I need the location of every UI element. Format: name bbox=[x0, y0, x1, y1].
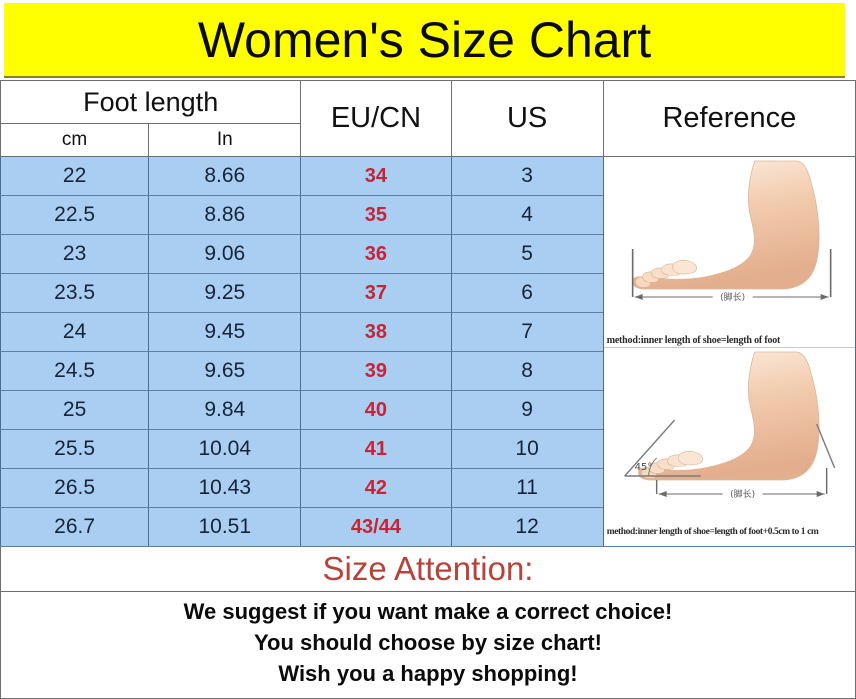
table-header-row-primary: Foot length EU/CN US Reference bbox=[1, 81, 856, 124]
cell-in: 8.66 bbox=[149, 157, 301, 196]
size-chart-page: Women's Size Chart Foot length EU/CN US … bbox=[0, 0, 856, 692]
cell-eu-cn: 43/44 bbox=[301, 508, 451, 547]
reference-caption-1: method:inner length of shoe=length of fo… bbox=[604, 335, 855, 346]
size-notes-cell: We suggest if you want make a correct ch… bbox=[1, 592, 856, 699]
cell-in: 9.65 bbox=[149, 352, 301, 391]
reference-stack: (脚长) method:inner length of shoe=length … bbox=[604, 157, 855, 546]
cell-us: 11 bbox=[451, 469, 603, 508]
cell-us: 6 bbox=[451, 274, 603, 313]
cell-cm: 25.5 bbox=[1, 430, 149, 469]
cell-eu-cn: 35 bbox=[301, 196, 451, 235]
size-notes-row: We suggest if you want make a correct ch… bbox=[1, 592, 856, 699]
measure-label-2: (脚长) bbox=[730, 488, 755, 500]
cell-eu-cn: 37 bbox=[301, 274, 451, 313]
cell-us: 4 bbox=[451, 196, 603, 235]
note-line-3: Wish you a happy shopping! bbox=[1, 658, 855, 689]
cell-in: 9.06 bbox=[149, 235, 301, 274]
cell-cm: 26.7 bbox=[1, 508, 149, 547]
cell-in: 9.25 bbox=[149, 274, 301, 313]
foot-diagram-icon: (脚长) bbox=[604, 157, 855, 325]
cell-in: 8.86 bbox=[149, 196, 301, 235]
cell-us: 9 bbox=[451, 391, 603, 430]
measure-label-1: (脚长) bbox=[720, 291, 745, 303]
cell-in: 10.04 bbox=[149, 430, 301, 469]
header-foot-length: Foot length bbox=[1, 81, 301, 124]
cell-us: 12 bbox=[451, 508, 603, 547]
cell-cm: 23 bbox=[1, 235, 149, 274]
reference-diagram-2: 45° (脚长) bbox=[604, 347, 855, 538]
cell-us: 10 bbox=[451, 430, 603, 469]
title-banner: Women's Size Chart bbox=[4, 3, 845, 78]
size-chart-table: Foot length EU/CN US Reference cm In 22 … bbox=[0, 80, 856, 699]
cell-eu-cn: 39 bbox=[301, 352, 451, 391]
cell-cm: 26.5 bbox=[1, 469, 149, 508]
cell-eu-cn: 36 bbox=[301, 235, 451, 274]
reference-images-cell: (脚长) method:inner length of shoe=length … bbox=[603, 157, 855, 547]
header-cm: cm bbox=[1, 124, 149, 157]
angle-label: 45° bbox=[634, 462, 652, 473]
cell-cm: 25 bbox=[1, 391, 149, 430]
reference-caption-2: method:inner length of shoe=length of fo… bbox=[604, 527, 855, 537]
header-reference: Reference bbox=[603, 81, 855, 157]
cell-cm: 22.5 bbox=[1, 196, 149, 235]
page-title: Women's Size Chart bbox=[198, 15, 651, 65]
cell-us: 7 bbox=[451, 313, 603, 352]
foot-diagram-angle-icon: 45° (脚长) bbox=[604, 348, 855, 516]
cell-in: 10.43 bbox=[149, 469, 301, 508]
cell-cm: 22 bbox=[1, 157, 149, 196]
cell-cm: 24.5 bbox=[1, 352, 149, 391]
cell-eu-cn: 41 bbox=[301, 430, 451, 469]
header-us: US bbox=[451, 81, 603, 157]
cell-eu-cn: 38 bbox=[301, 313, 451, 352]
cell-in: 10.51 bbox=[149, 508, 301, 547]
cell-us: 3 bbox=[451, 157, 603, 196]
header-in: In bbox=[149, 124, 301, 157]
size-attention-row: Size Attention: bbox=[1, 547, 856, 592]
table-row: 22 8.66 34 3 bbox=[1, 157, 856, 196]
size-attention-title: Size Attention: bbox=[1, 547, 856, 592]
cell-us: 5 bbox=[451, 235, 603, 274]
cell-cm: 23.5 bbox=[1, 274, 149, 313]
cell-us: 8 bbox=[451, 352, 603, 391]
header-eu-cn: EU/CN bbox=[301, 81, 451, 157]
reference-diagram-1: (脚长) method:inner length of shoe=length … bbox=[604, 157, 855, 347]
note-line-2: You should choose by size chart! bbox=[1, 627, 855, 658]
cell-in: 9.84 bbox=[149, 391, 301, 430]
cell-cm: 24 bbox=[1, 313, 149, 352]
cell-eu-cn: 42 bbox=[301, 469, 451, 508]
cell-in: 9.45 bbox=[149, 313, 301, 352]
note-line-1: We suggest if you want make a correct ch… bbox=[1, 596, 855, 627]
cell-eu-cn: 34 bbox=[301, 157, 451, 196]
cell-eu-cn: 40 bbox=[301, 391, 451, 430]
